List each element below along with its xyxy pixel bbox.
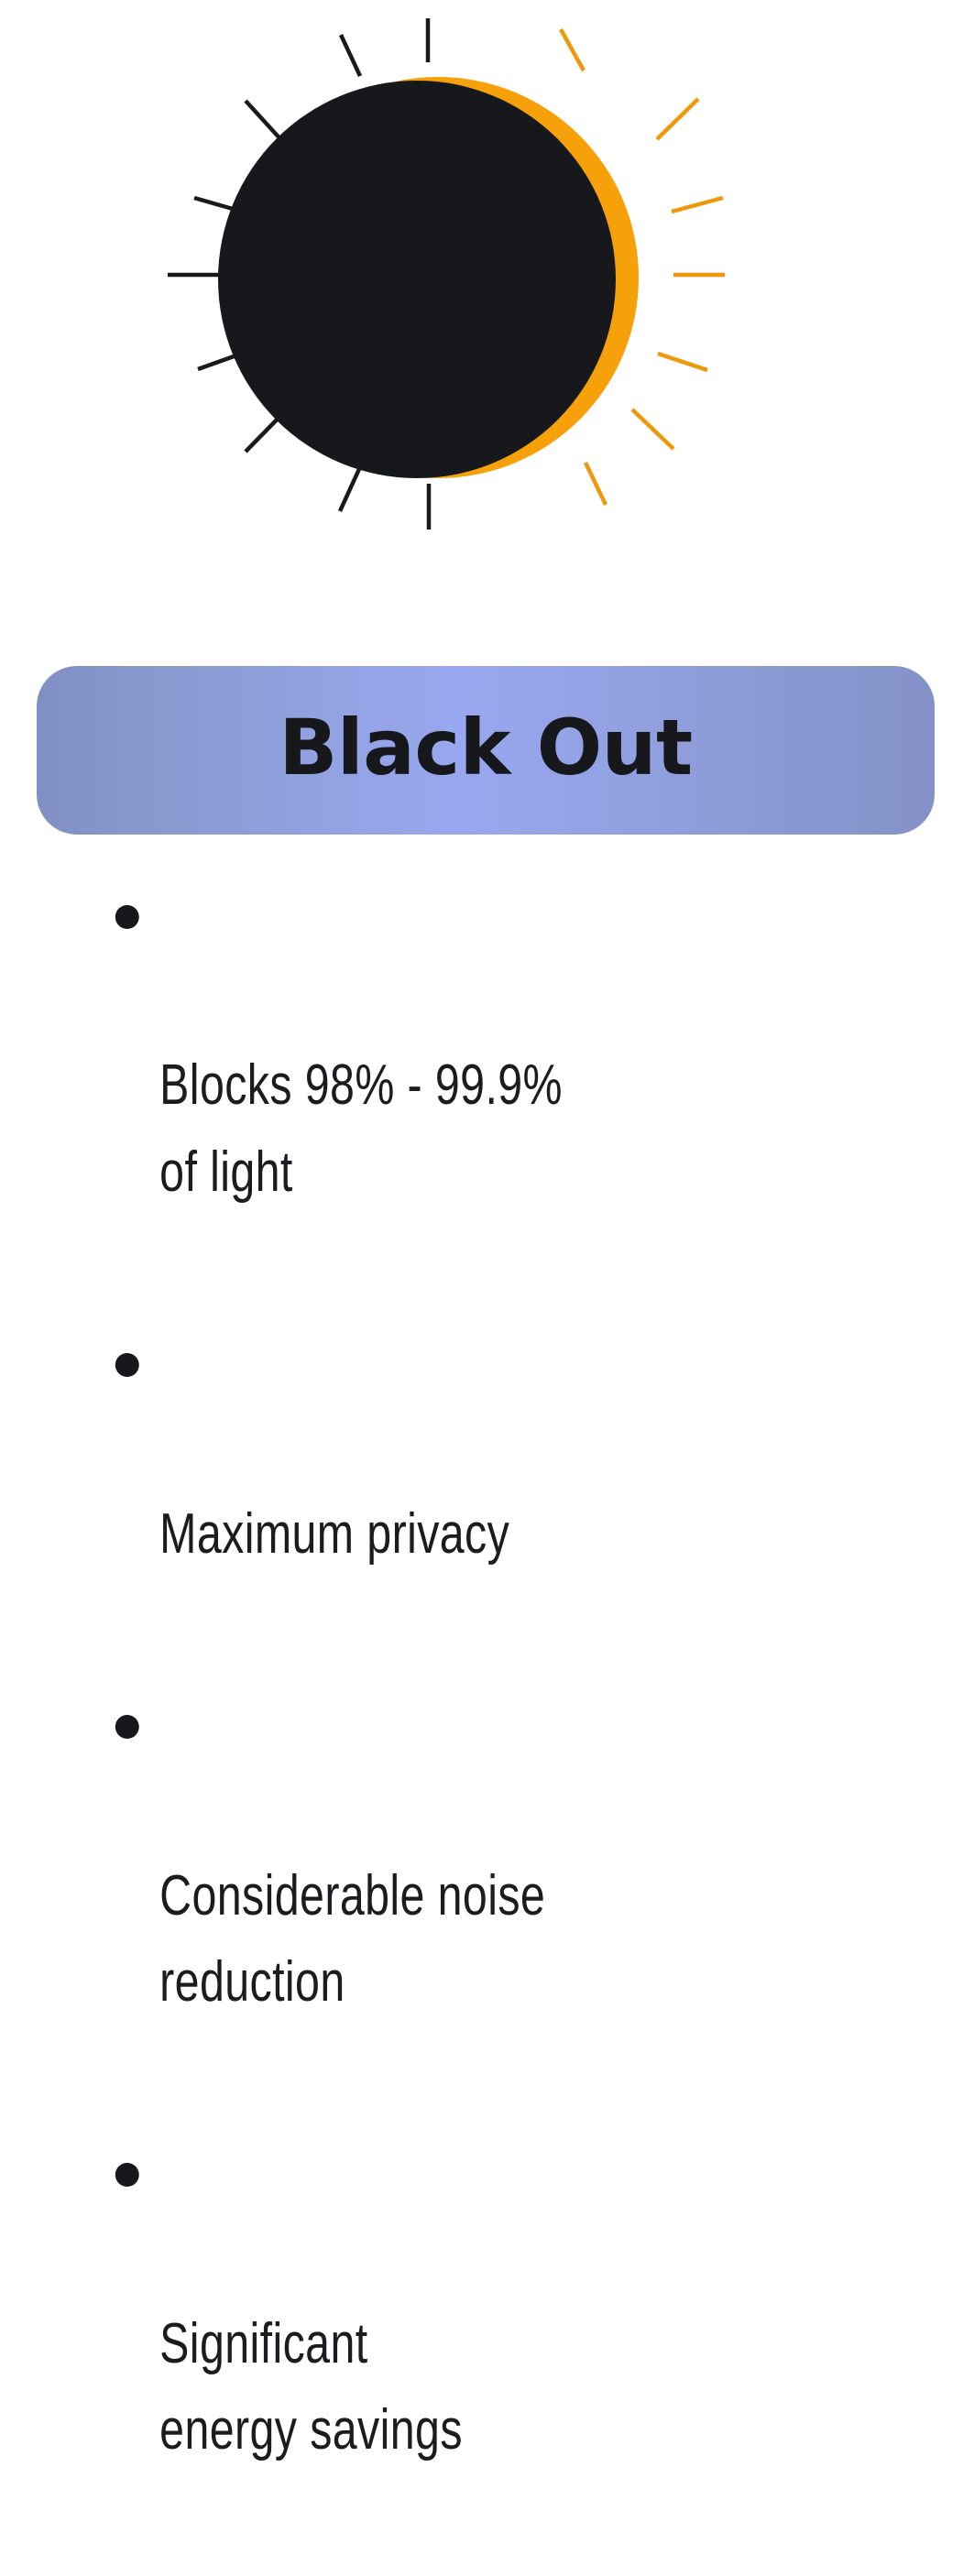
feature-list: Blocks 98% - 99.9% of light Maximum priv… [108,870,869,2576]
bullet-icon [115,1715,139,1739]
list-item: Blocks 98% - 99.9% of light [108,870,920,1302]
bullet-icon [115,1353,139,1377]
bullet-icon [115,905,139,929]
list-item-label: Blocks 98% - 99.9% of light [159,1042,920,1215]
list-item-label: Significant energy savings [159,2301,920,2473]
page-title: Black Out [279,709,692,791]
bullet-icon [115,2163,139,2187]
list-item-label: Maximum privacy [159,1491,920,1577]
list-item: Considerable noise reduction [108,1680,920,2112]
list-item: Maximum privacy [108,1318,920,1664]
list-item: Significant energy savings [108,2128,920,2560]
eclipse-sun-icon [0,0,974,563]
list-item-label: Considerable noise reduction [159,1853,920,2025]
eclipse-disc [218,81,616,478]
title-banner: Black Out [37,666,935,835]
